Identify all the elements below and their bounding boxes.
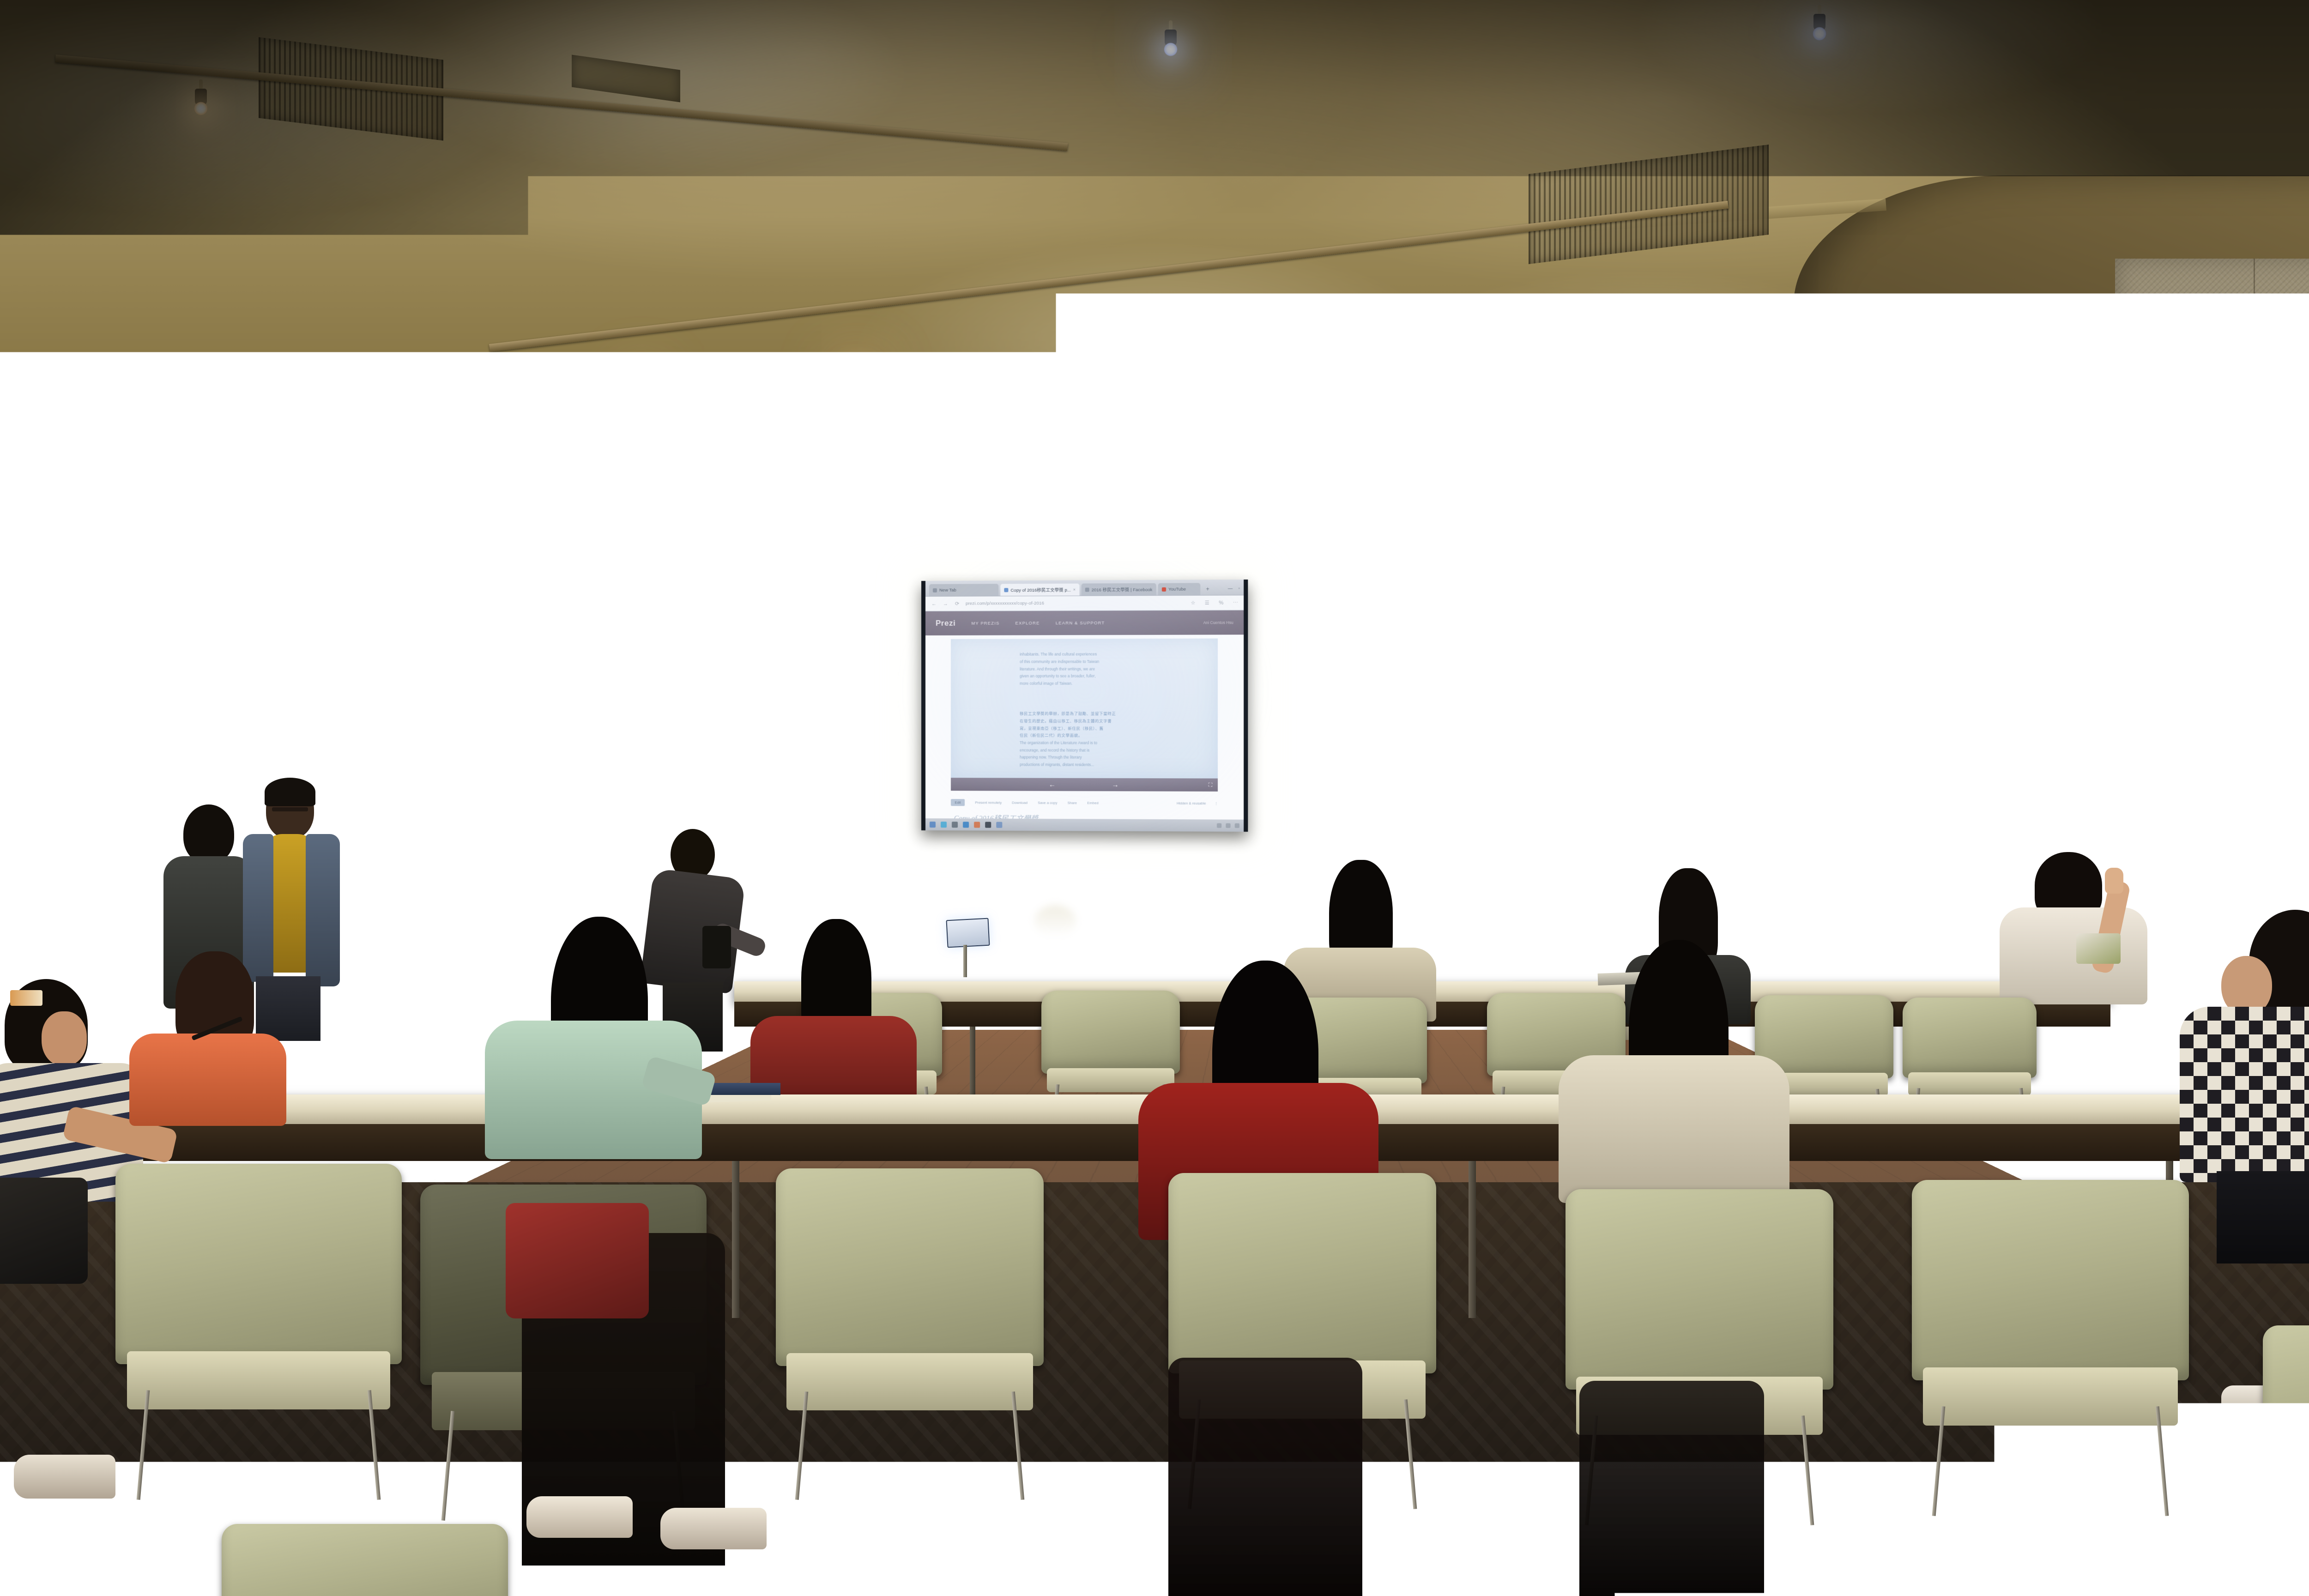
slide-en-line: given an opportunity to see a broader, f… — [1020, 673, 1185, 680]
battery-icon[interactable] — [1235, 823, 1239, 828]
account-label[interactable]: Ani Cuentos Hsu — [1203, 620, 1233, 625]
hair — [265, 778, 315, 806]
task-view-icon[interactable] — [952, 822, 958, 828]
hand — [2105, 868, 2123, 894]
person-videographer-striped-sweater — [1847, 791, 1935, 998]
close-tab-icon[interactable]: × — [1073, 587, 1076, 592]
pa-speaker — [539, 797, 598, 862]
settings-icon[interactable]: ⋯ — [1233, 599, 1238, 605]
prezi-nav-my-prezis[interactable]: MY PREZIS — [971, 621, 999, 626]
prezi-playback-bar: ← → ⛶ — [951, 778, 1218, 792]
favorite-star-icon[interactable]: ☆ — [1191, 600, 1195, 606]
hair-tie — [1905, 794, 1917, 804]
reading-list-icon[interactable]: ☰ — [1205, 600, 1209, 606]
face — [42, 1011, 87, 1066]
notebook — [707, 1083, 780, 1095]
chair[interactable] — [222, 1524, 508, 1596]
head — [183, 804, 234, 864]
url-text: prezi.com/p/xxxxxxxxxxx/copy-of-2016 — [966, 600, 1185, 606]
search-icon[interactable] — [941, 822, 947, 828]
browser-tab-active[interactable]: Copy of 2016移民工文學獎 p... × — [1000, 584, 1079, 596]
more-options-icon[interactable]: ⋮ — [1215, 801, 1218, 805]
save-a-copy-button[interactable]: Save a copy — [1038, 801, 1057, 805]
person-cream-sweater — [1549, 940, 1799, 1198]
prezi-action-toolbar: Edit Present remotely Download Save a co… — [951, 797, 1218, 810]
glasses-icon — [272, 807, 308, 811]
reload-icon[interactable]: ⟳ — [954, 601, 960, 607]
start-icon[interactable] — [930, 822, 936, 828]
bag-on-chair — [506, 1203, 649, 1318]
hair-clip-icon — [10, 990, 42, 1006]
slide-zh-line: 寫，呈現東南亞（移工）、新住民（移民）、舊 — [1020, 725, 1185, 732]
head — [1860, 815, 1900, 863]
tab-label: 2016 移民工文學獎 | Facebook — [1091, 586, 1152, 593]
chair[interactable] — [2263, 1325, 2309, 1596]
chrome-icon[interactable] — [974, 822, 980, 828]
next-slide-icon[interactable]: → — [1112, 781, 1118, 789]
slide-text-content: inhabitants. The life and cultural exper… — [1020, 651, 1185, 769]
browser-tab[interactable]: YouTube — [1158, 583, 1201, 595]
slide-zh-line: 在發生的歷史。藉由以移工、移民為主體的文字書 — [1020, 718, 1185, 725]
photo-scene: New Tab Copy of 2016移民工文學獎 p... × 2016 移… — [0, 0, 2309, 1596]
sneaker-icon — [2254, 1478, 2309, 1522]
torso-white-tshirt — [2000, 907, 2147, 1004]
seated-legs-silhouette — [1168, 1358, 1362, 1596]
slide-en-line: more colorful image of Taiwan. — [1020, 680, 1185, 687]
slide-en-line: happening now. Through the literary — [1020, 755, 1185, 761]
generic-page-icon — [933, 588, 937, 592]
tab-label: YouTube — [1168, 586, 1186, 592]
slide-en-line: of this community are indispensable to T… — [1020, 659, 1185, 665]
slide-en-line: literature. And through their writings, … — [1020, 666, 1185, 672]
person-dark-red-top — [746, 919, 921, 1104]
sneaker-icon — [660, 1508, 767, 1549]
chair[interactable] — [1977, 1552, 2263, 1596]
tab-label: New Tab — [939, 587, 956, 592]
side-table-left-rear — [342, 857, 554, 871]
stage-highlight — [1034, 905, 1076, 937]
prezi-presentation-stage: inhabitants. The life and cultural exper… — [925, 635, 1244, 832]
prezi-nav-learn-support[interactable]: LEARN & SUPPORT — [1056, 620, 1105, 625]
screen-cord — [1275, 584, 1276, 778]
table-leg — [732, 1161, 739, 1318]
acoustic-wall-panel-far-right — [2115, 259, 2309, 628]
download-button[interactable]: Download — [1012, 801, 1028, 805]
held-object — [2076, 933, 2121, 964]
youtube-favicon — [1162, 587, 1166, 591]
chair[interactable] — [1912, 1180, 2189, 1503]
volume-icon[interactable] — [1226, 823, 1230, 828]
recessed-downlight — [1268, 418, 1294, 430]
browser-address-bar[interactable]: ← → ⟳ prezi.com/p/xxxxxxxxxxx/copy-of-20… — [925, 595, 1244, 611]
person-mint-tshirt — [473, 917, 713, 1157]
browser-tab[interactable]: New Tab — [929, 584, 998, 596]
prezi-nav-explore[interactable]: EXPLORE — [1015, 621, 1040, 626]
powerpoint-icon[interactable] — [996, 822, 1002, 828]
prezi-favicon — [1004, 588, 1008, 592]
embed-button[interactable]: Embed — [1087, 801, 1098, 805]
extension-icon[interactable]: % — [1219, 600, 1223, 605]
network-icon[interactable] — [1217, 823, 1221, 828]
torso-checked — [2180, 1007, 2309, 1182]
wall-door-handle-stem — [1060, 875, 1063, 908]
tab-label: Copy of 2016移民工文學獎 p... — [1010, 586, 1070, 593]
browser-tab-strip: New Tab Copy of 2016移民工文學獎 p... × 2016 移… — [925, 580, 1244, 597]
edit-button[interactable]: Edit — [951, 799, 965, 806]
share-button[interactable]: Share — [1068, 801, 1077, 805]
prezi-slide-canvas[interactable]: inhabitants. The life and cultural exper… — [951, 639, 1218, 779]
seated-legs-silhouette — [1579, 1381, 1764, 1596]
forward-arrow-icon[interactable]: → — [943, 601, 949, 607]
table-leg — [1469, 1161, 1476, 1318]
projection-screen: New Tab Copy of 2016移民工文學獎 p... × 2016 移… — [921, 580, 1248, 832]
new-tab-button[interactable]: + — [1202, 586, 1213, 595]
prezi-logo[interactable]: Prezi — [936, 619, 955, 628]
torso-striped-sweater — [1854, 872, 1935, 978]
word-icon[interactable] — [985, 822, 991, 828]
slide-en-line: The organization of the Literature Award… — [1020, 740, 1185, 746]
slide-en-line: inhabitants. The life and cultural exper… — [1020, 651, 1185, 658]
fullscreen-icon[interactable]: ⛶ — [1209, 782, 1213, 789]
recessed-downlight — [1104, 427, 1130, 439]
screen-cord — [1288, 584, 1290, 760]
slide-zh-line: 住民（新住民二代）的文學面貌。 — [1020, 733, 1185, 739]
projected-browser-window: New Tab Copy of 2016移民工文學獎 p... × 2016 移… — [925, 580, 1244, 832]
screen-edge-left — [921, 581, 925, 830]
window-controls: — ▫ — [1228, 586, 1240, 595]
minimize-icon[interactable]: — — [1228, 586, 1233, 591]
presenter-laptop[interactable] — [946, 918, 990, 948]
recessed-downlight — [1007, 418, 1033, 430]
person-orange-top — [125, 951, 291, 1122]
laptop-stand — [963, 945, 967, 977]
slide-en-line: productions of migrants, distant residen… — [1020, 762, 1185, 768]
prezi-site-nav: Prezi MY PREZIS EXPLORE LEARN & SUPPORT … — [925, 611, 1244, 635]
maximize-icon[interactable]: ▫ — [1238, 586, 1240, 591]
torso-cream — [1559, 1055, 1789, 1203]
trousers — [2217, 1171, 2309, 1263]
prezi-toolbar-right: Hidden & reusable ⋮ — [1177, 801, 1218, 805]
browser-toolbar-icons: ☆ ☰ % ⋯ — [1191, 599, 1238, 605]
file-explorer-icon[interactable] — [963, 822, 969, 828]
facebook-favicon — [1085, 587, 1089, 592]
wall-door-handle — [1060, 875, 1087, 878]
camera-cable — [1841, 820, 1842, 926]
chair[interactable] — [776, 1168, 1044, 1487]
hidden-reusable-label[interactable]: Hidden & reusable — [1177, 801, 1206, 805]
backpack — [0, 1178, 88, 1284]
denim-shirt-right — [306, 834, 340, 986]
previous-slide-icon[interactable]: ← — [1049, 781, 1056, 789]
chair[interactable] — [115, 1164, 402, 1487]
torso-orange — [129, 1034, 286, 1126]
browser-tab[interactable]: 2016 移民工文學獎 | Facebook — [1081, 583, 1156, 596]
sneaker-icon — [526, 1496, 633, 1538]
screen-edge-right — [1244, 580, 1248, 832]
camcorder-icon — [1802, 801, 1842, 822]
system-tray — [1217, 823, 1239, 828]
slide-en-line: encourage, and record the history that i… — [1020, 747, 1185, 754]
window-valance — [2092, 614, 2309, 730]
present-remotely-button[interactable]: Present remotely — [975, 800, 1002, 804]
slide-zh-line: 移民工文學獎的舉辦，即是為了鼓勵、並留下當時正 — [1020, 711, 1185, 718]
back-arrow-icon[interactable]: ← — [931, 601, 937, 607]
person-white-tshirt-hand-raised — [1990, 852, 2157, 1014]
sneaker-icon — [14, 1455, 115, 1499]
windows-taskbar — [925, 818, 1244, 832]
